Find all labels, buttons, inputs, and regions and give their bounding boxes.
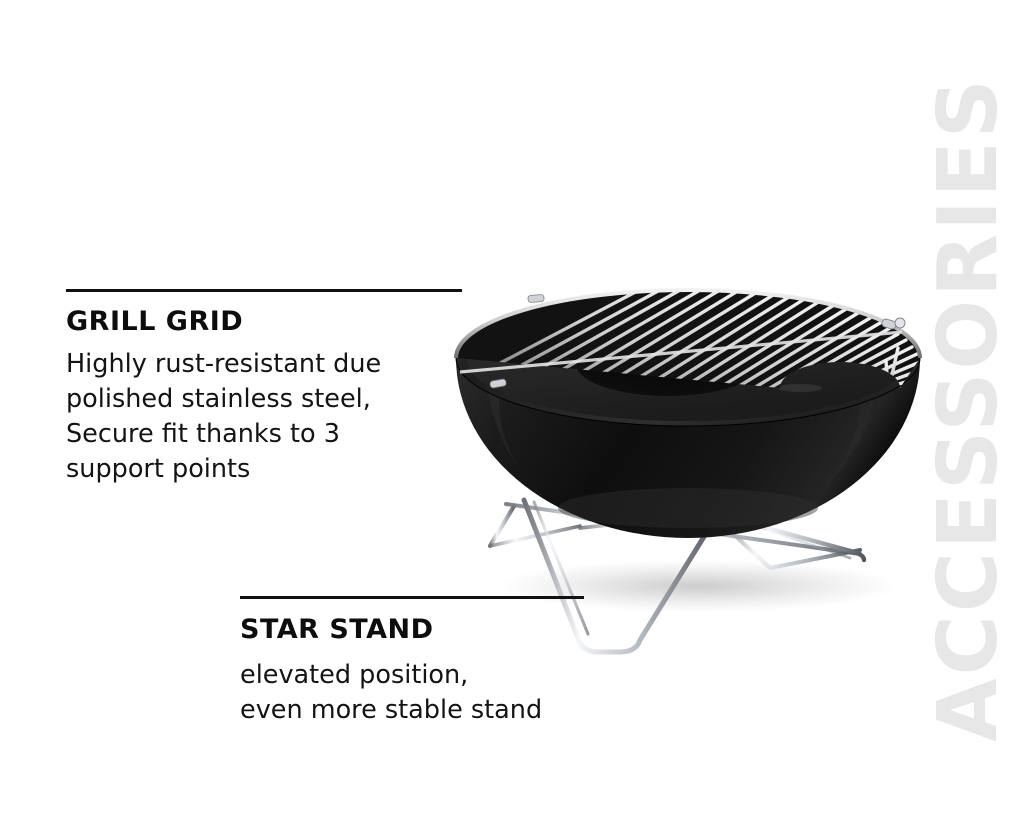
callout-rule-star-stand <box>240 596 584 599</box>
accessories-page: ACCESSORIES <box>0 0 1020 818</box>
callout-body-grill-grid: Highly rust-resistant due polished stain… <box>66 347 462 487</box>
callout-title-star-stand: STAR STAND <box>240 616 584 644</box>
callout-body-star-stand: elevated position, even more stable stan… <box>240 658 584 728</box>
callout-rule-grill-grid <box>66 289 462 292</box>
grate-handle-knob <box>895 318 905 328</box>
callout-star-stand: STAR STAND elevated position, even more … <box>240 596 584 728</box>
callout-title-grill-grid: GRILL GRID <box>66 308 462 336</box>
callout-grill-grid: GRILL GRID Highly rust-resistant due pol… <box>66 289 462 487</box>
brand-mark <box>778 384 822 392</box>
